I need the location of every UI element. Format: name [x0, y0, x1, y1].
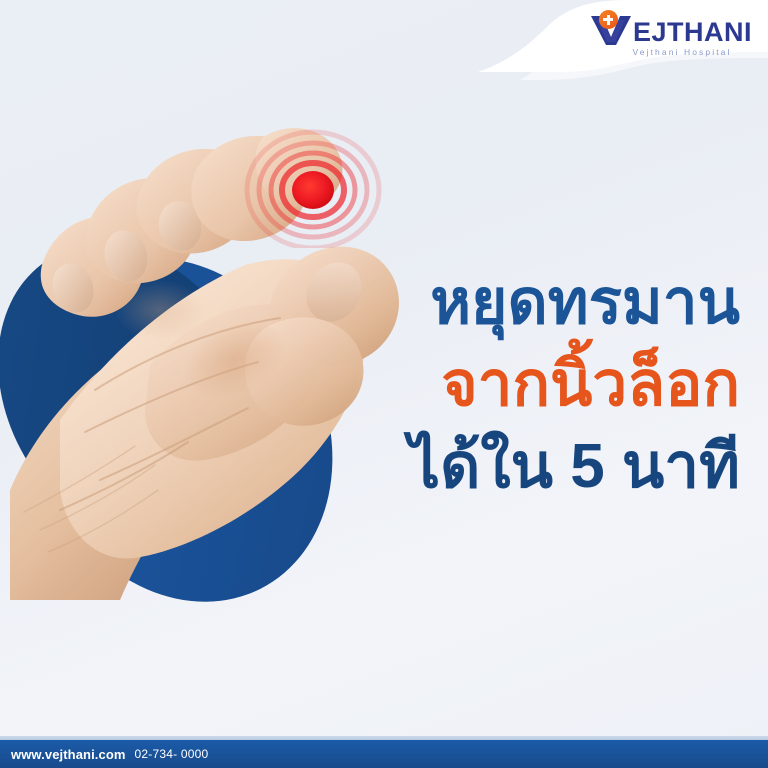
poster-canvas: หยุดทรมาน จากนิ้วล็อก ได้ใน 5 นาที EJTHA…	[0, 0, 768, 768]
footer-phone-number[interactable]: 02-734- 0000	[135, 747, 209, 761]
headline-line-2: จากนิ้วล็อก	[409, 354, 740, 416]
logo-mark	[590, 12, 632, 46]
footer-website-link[interactable]: www.vejthani.com	[11, 747, 126, 762]
logo-row: EJTHANI	[590, 12, 752, 46]
medical-cross-icon	[599, 10, 618, 29]
hand-photo	[0, 60, 440, 620]
headline-block: หยุดทรมาน จากนิ้วล็อก ได้ใน 5 นาที	[409, 272, 740, 498]
logo-tagline: Vejthani Hospital	[632, 48, 731, 57]
vejthani-logo[interactable]: EJTHANI Vejthani Hospital	[590, 12, 752, 57]
headline-line-1: หยุดทรมาน	[409, 272, 740, 334]
headline-line-3: ได้ใน 5 นาที	[409, 436, 740, 498]
footer-bar: www.vejthani.com 02-734- 0000	[0, 740, 768, 768]
logo-wordmark: EJTHANI	[633, 20, 752, 46]
